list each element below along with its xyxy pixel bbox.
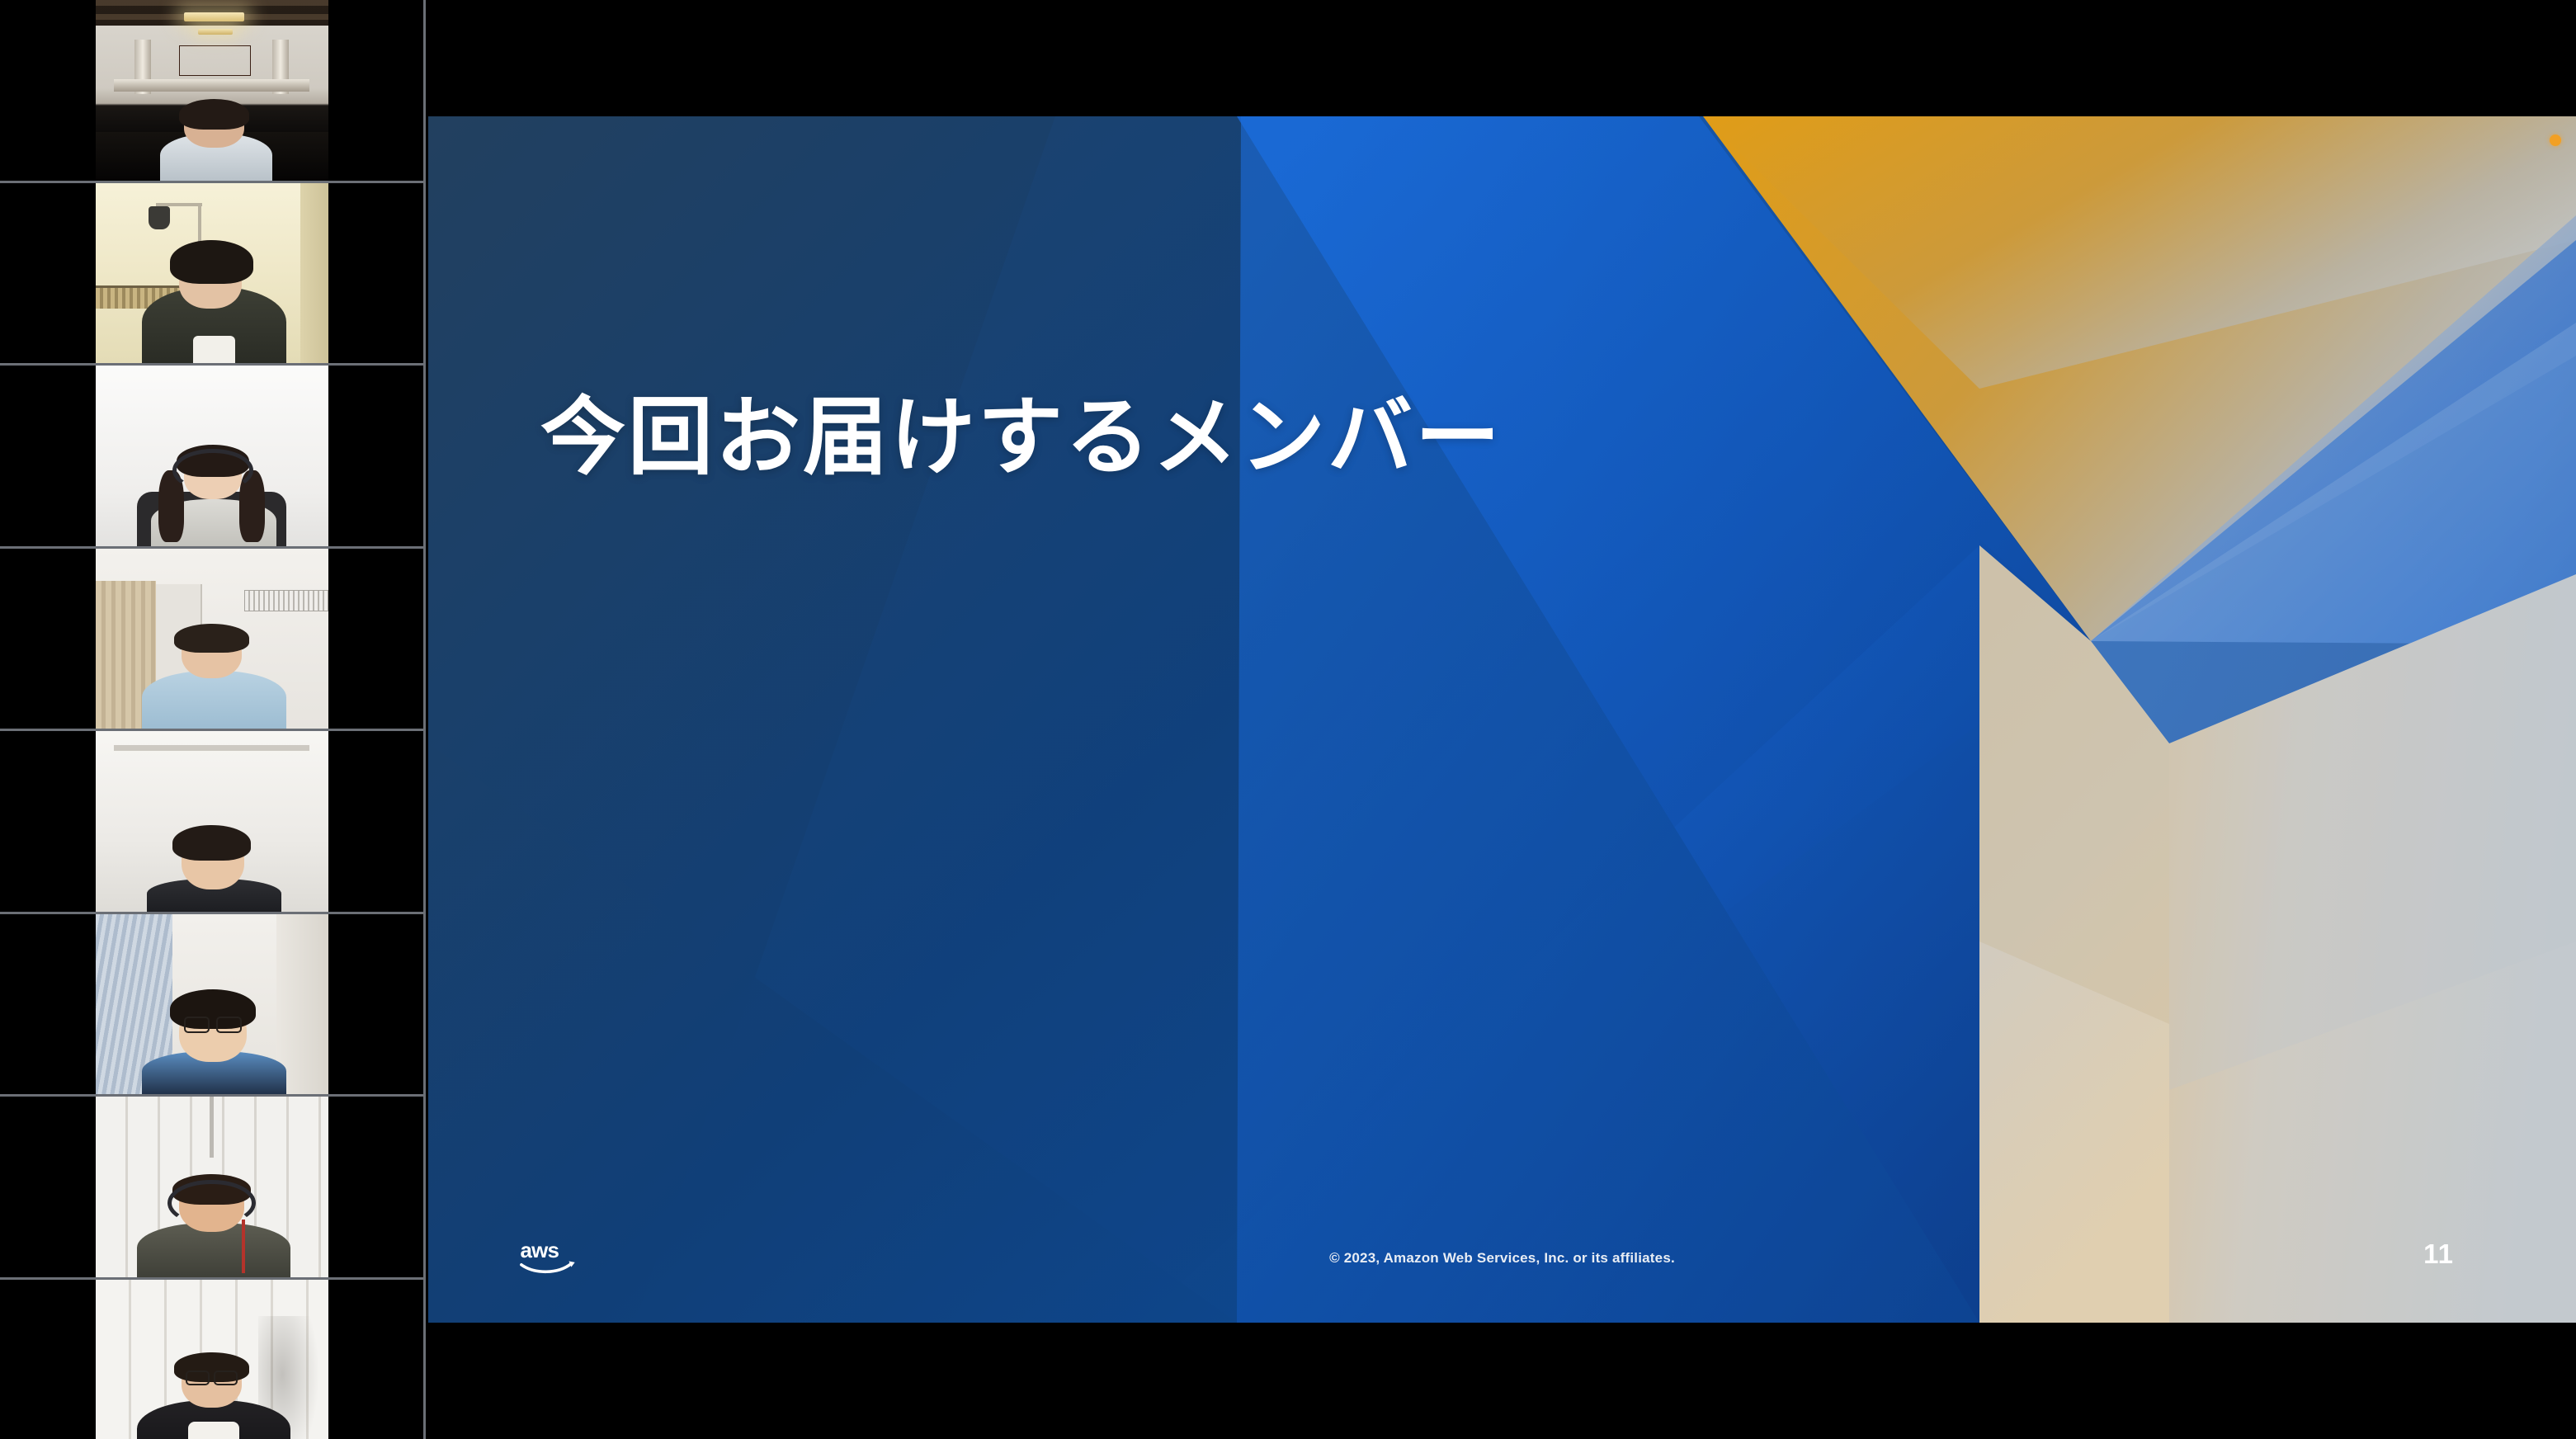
participant-video [96,914,328,1095]
person-hair [170,240,254,283]
slide-background-artwork [428,116,2576,1323]
headphones-icon [172,449,254,492]
chandelier [184,12,244,21]
screen-root: 今回お届けするメンバー aws © 2023, Amazon Web Servi… [0,0,2576,1439]
shelf [244,590,328,611]
person-hair [172,825,252,861]
participant-video [96,731,328,912]
wall-right [300,183,328,364]
eyeglasses-icon [186,1371,209,1385]
eyeglasses-icon [184,1017,210,1033]
wall-rail [114,745,309,751]
participant-video [96,1097,328,1277]
participant-video [96,549,328,729]
accent-dot-icon [2550,134,2561,146]
person-hair [170,989,256,1029]
video-scene [96,1280,328,1439]
participant-tile[interactable] [0,731,423,914]
participant-tile[interactable] [0,914,423,1097]
slide-page-number: 11 [2423,1238,2454,1270]
participant-tile[interactable] [0,1097,423,1280]
person-torso [142,671,286,729]
participant-tile[interactable] [0,549,423,732]
eyeglasses-icon [216,1017,242,1033]
video-scene [96,183,328,364]
slide-title: 今回お届けするメンバー [540,389,1503,486]
participant-video [96,0,328,181]
desk-lamp-head [149,206,169,229]
participant-tile[interactable] [0,1280,423,1439]
participant-video [96,183,328,364]
bookshelf [179,45,251,76]
person-hair [179,99,249,130]
participant-tile[interactable] [0,183,423,366]
shared-slide[interactable]: 今回お届けするメンバー aws © 2023, Amazon Web Servi… [428,116,2576,1323]
participant-video [96,366,328,546]
door-post [210,1097,214,1158]
video-scene [96,731,328,912]
person-shirt [193,336,235,363]
video-scene [96,366,328,546]
person-shirt [188,1422,239,1439]
participant-video [96,1280,328,1439]
eyeglasses-icon [214,1371,237,1385]
video-scene [96,914,328,1095]
video-scene [96,1097,328,1277]
participant-tile[interactable] [0,366,423,549]
video-scene [96,549,328,729]
headset-cable [242,1220,245,1274]
participant-filmstrip[interactable] [0,0,426,1439]
chandelier-secondary [198,29,233,35]
counter [114,79,309,92]
video-scene [96,0,328,181]
person-hair [174,624,248,653]
slide-copyright: © 2023, Amazon Web Services, Inc. or its… [428,1250,2576,1267]
participant-tile[interactable] [0,0,423,183]
